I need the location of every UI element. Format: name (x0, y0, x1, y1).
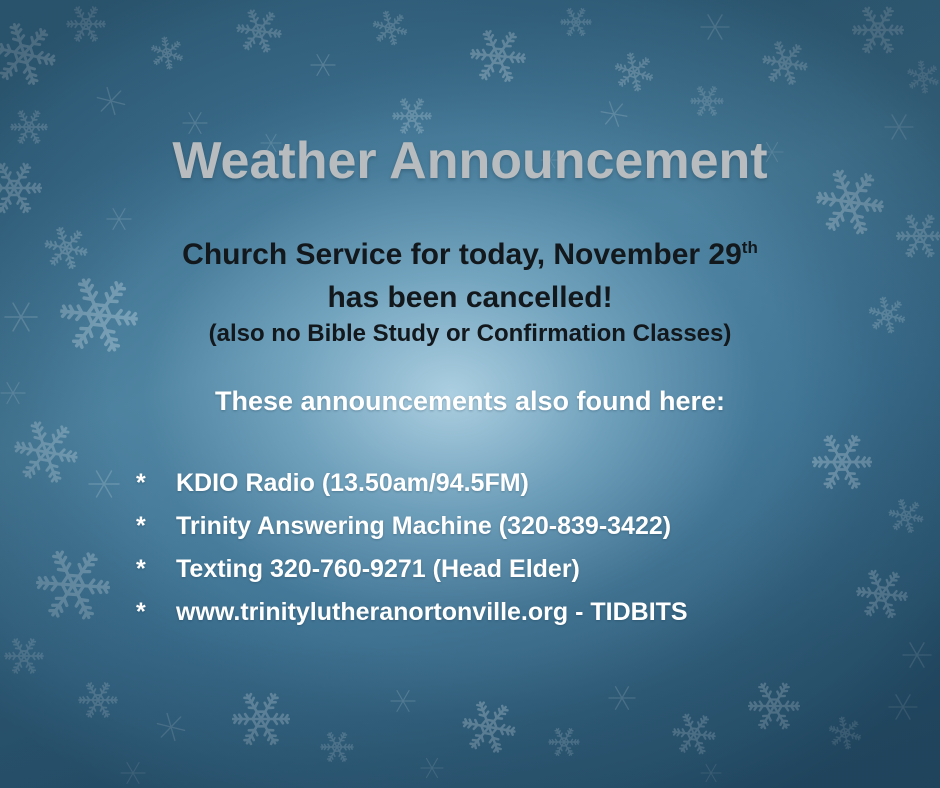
list-item-label: Texting 320-760-9271 (Head Elder) (176, 555, 580, 583)
list-item-label: KDIO Radio (13.50am/94.5FM) (176, 469, 529, 497)
list-item-label: www.trinitylutheranortonville.org - TIDB… (176, 598, 688, 626)
headline-line-2: has been cancelled! (0, 281, 940, 315)
headline-text: Church Service for today, November 29 (182, 238, 742, 271)
list-item: *Trinity Answering Machine (320-839-3422… (0, 505, 940, 548)
poster-content: Weather Announcement Church Service for … (0, 0, 940, 788)
ordinal-suffix: th (742, 238, 758, 257)
found-here-label: These announcements also found here: (0, 386, 940, 417)
headline-line-1: Church Service for today, November 29th (0, 238, 940, 272)
bullet-marker: * (136, 505, 176, 548)
bullet-marker: * (136, 591, 176, 634)
bullet-marker: * (136, 462, 176, 505)
headline-note: (also no Bible Study or Confirmation Cla… (0, 320, 940, 348)
list-item: *Texting 320-760-9271 (Head Elder) (0, 548, 940, 591)
list-item-label: Trinity Answering Machine (320-839-3422) (176, 512, 671, 540)
bullet-marker: * (136, 548, 176, 591)
list-item: *www.trinitylutheranortonville.org - TID… (0, 591, 940, 634)
contact-list: *KDIO Radio (13.50am/94.5FM) *Trinity An… (0, 462, 940, 634)
list-item: *KDIO Radio (13.50am/94.5FM) (0, 462, 940, 505)
weather-announcement-poster: Weather Announcement Church Service for … (0, 0, 940, 788)
page-title: Weather Announcement (0, 131, 940, 191)
